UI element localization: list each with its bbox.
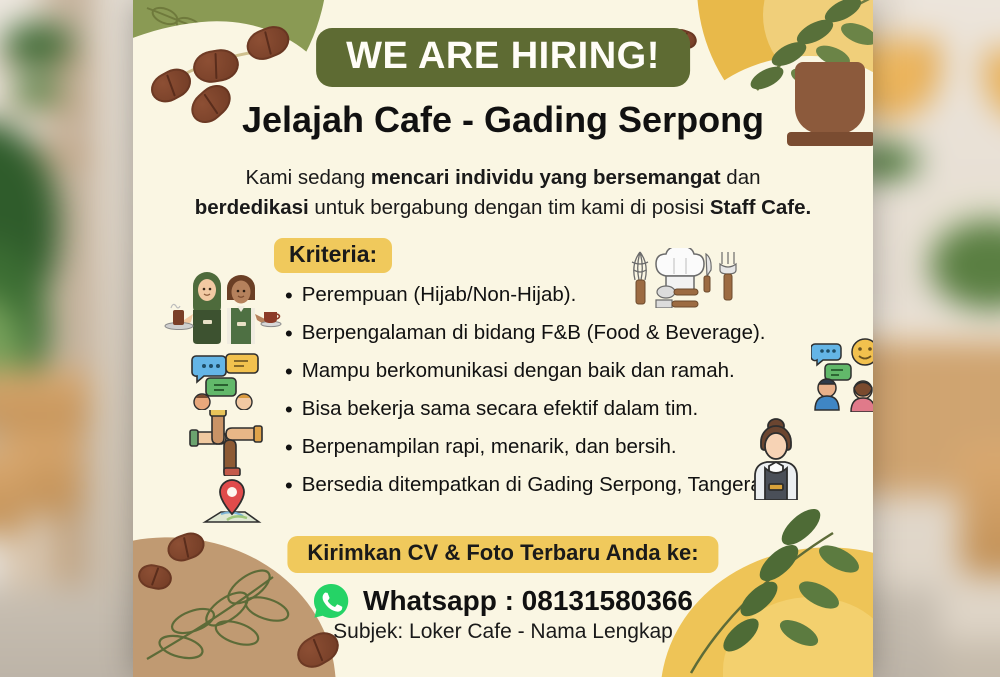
whatsapp-contact-row[interactable]: Whatsapp : 08131580366 bbox=[313, 583, 693, 619]
screenshot-stage: WE ARE HIRING! Jelajah Cafe - Gading Ser… bbox=[0, 0, 1000, 677]
intro-text-f: Staff Cafe. bbox=[710, 196, 811, 219]
intro-text-e: untuk bergabung dengan tim kami di posis… bbox=[309, 196, 710, 219]
two-baristas-icon bbox=[163, 268, 283, 348]
list-item-label: Mampu berkomunikasi dengan baik dan rama… bbox=[302, 360, 735, 383]
list-item-label: Berpengalaman di bidang F&B (Food & Beve… bbox=[302, 322, 766, 345]
bullet-dot-icon: • bbox=[285, 284, 293, 307]
map-pin-icon bbox=[201, 478, 263, 530]
background-table bbox=[0, 370, 90, 430]
intro-text-a: Kami sedang bbox=[245, 166, 370, 189]
speech-bubbles-icon bbox=[188, 352, 266, 410]
whatsapp-icon[interactable] bbox=[313, 583, 349, 619]
list-item-label: Berpenampilan rapi, menarik, dan bersih. bbox=[302, 436, 677, 459]
bullet-dot-icon: • bbox=[285, 474, 293, 497]
poster-content: WE ARE HIRING! Jelajah Cafe - Gading Ser… bbox=[133, 0, 873, 677]
intro-paragraph: Kami sedang mencari individu yang bersem… bbox=[153, 163, 853, 222]
list-item-label: Bersedia ditempatkan di Gading Serpong, … bbox=[302, 474, 791, 497]
list-item: • Perempuan (Hijab/Non-Hijab). bbox=[285, 284, 865, 322]
chef-hat-utensils-icon bbox=[618, 248, 748, 308]
background-chair bbox=[960, 445, 1000, 575]
intro-text-d: berdedikasi bbox=[195, 196, 309, 219]
subject-line-label: Subjek: Loker Cafe - Nama Lengkap bbox=[333, 620, 673, 644]
waitress-icon bbox=[741, 412, 811, 500]
teamwork-hands-icon bbox=[188, 410, 264, 476]
whatsapp-number-label: Whatsapp : 08131580366 bbox=[363, 587, 693, 615]
job-poster-card: WE ARE HIRING! Jelajah Cafe - Gading Ser… bbox=[133, 0, 873, 677]
list-item: • Berpengalaman di bidang F&B (Food & Be… bbox=[285, 322, 865, 360]
criteria-label-badge: Kriteria: bbox=[274, 238, 392, 273]
background-chair-leg bbox=[18, 505, 27, 590]
cta-badge: Kirimkan CV & Foto Terbaru Anda ke: bbox=[287, 536, 718, 573]
intro-text-c: dan bbox=[721, 166, 761, 189]
bullet-dot-icon: • bbox=[285, 360, 293, 383]
bullet-dot-icon: • bbox=[285, 436, 293, 459]
bullet-dot-icon: • bbox=[285, 322, 293, 345]
list-item-label: Perempuan (Hijab/Non-Hijab). bbox=[302, 284, 577, 307]
list-item: • Mampu berkomunikasi dengan baik dan ra… bbox=[285, 360, 865, 398]
people-chat-icon bbox=[811, 338, 873, 412]
we-are-hiring-badge: WE ARE HIRING! bbox=[316, 28, 690, 87]
intro-text-b: mencari individu yang bersemangat bbox=[371, 166, 721, 189]
bullet-dot-icon: • bbox=[285, 398, 293, 421]
background-chair-leg bbox=[60, 505, 69, 585]
background-lamp-cord bbox=[887, 0, 890, 40]
list-item-label: Bisa bekerja sama secara efektif dalam t… bbox=[302, 398, 699, 421]
company-title: Jelajah Cafe - Gading Serpong bbox=[242, 100, 764, 140]
